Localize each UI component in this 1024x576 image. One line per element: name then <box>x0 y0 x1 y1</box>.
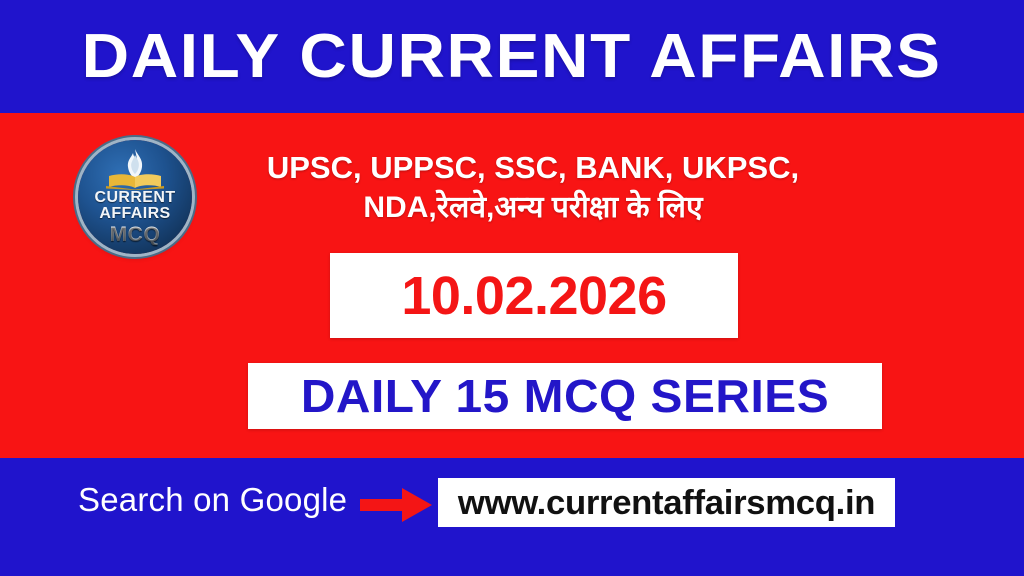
logo-line-1: CURRENT <box>78 190 192 206</box>
search-on-google-label: Search on Google <box>78 483 347 516</box>
page-title: DAILY CURRENT AFFAIRS <box>82 26 942 88</box>
date-box: 10.02.2026 <box>330 253 738 338</box>
brand-logo: CURRENT AFFAIRS MCQ <box>78 140 192 254</box>
exam-line-2: NDA,रेलवे,अन्य परीक्षा के लिए <box>228 188 838 227</box>
date-text: 10.02.2026 <box>401 269 666 323</box>
logo-line-3: MCQ <box>78 224 192 245</box>
open-book-icon <box>105 173 165 190</box>
right-arrow-icon <box>360 488 432 522</box>
series-banner: DAILY 15 MCQ SERIES <box>248 363 882 429</box>
logo-line-2: AFFAIRS <box>78 206 192 222</box>
header-bar: DAILY CURRENT AFFAIRS <box>0 0 1024 113</box>
exam-list: UPSC, UPPSC, SSC, BANK, UKPSC, NDA,रेलवे… <box>228 148 838 227</box>
logo-wordmark: CURRENT AFFAIRS MCQ <box>78 190 192 245</box>
poster-canvas: DAILY CURRENT AFFAIRS CURRENT AFFAIRS MC… <box>0 0 1024 576</box>
website-url-text: www.currentaffairsmcq.in <box>458 486 875 520</box>
exam-line-1: UPSC, UPPSC, SSC, BANK, UKPSC, <box>228 148 838 188</box>
website-url-box[interactable]: www.currentaffairsmcq.in <box>438 478 895 527</box>
series-label: DAILY 15 MCQ SERIES <box>301 373 829 419</box>
